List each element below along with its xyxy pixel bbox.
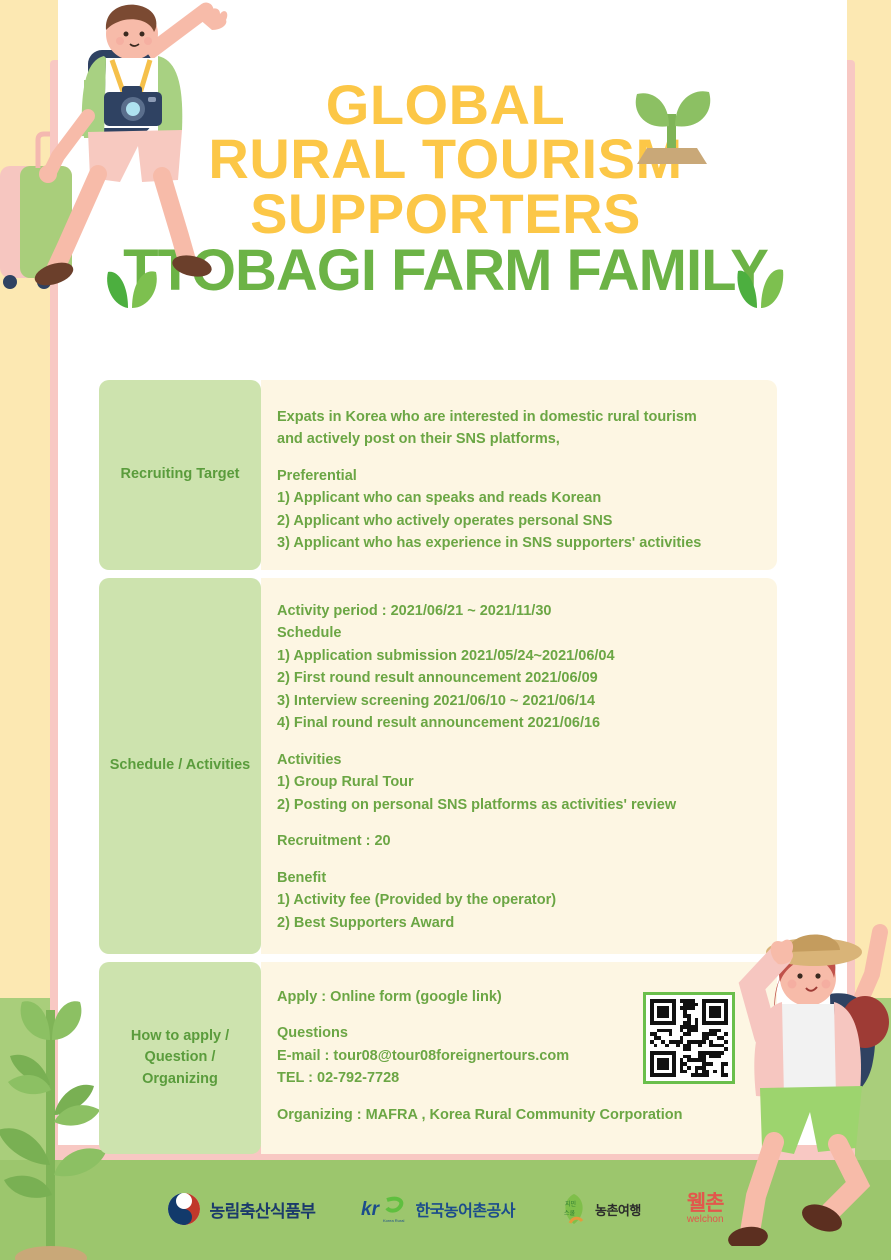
row-label-recruiting-target: Recruiting Target	[99, 380, 261, 570]
row-text-line: 1) Application submission 2021/05/24~202…	[277, 645, 759, 667]
taegeuk-icon	[167, 1192, 201, 1226]
qr-code-pattern	[650, 999, 728, 1077]
row-label-how-to-apply: How to apply / Question / Organizing	[99, 962, 261, 1154]
table-row: How to apply / Question / Organizing App…	[99, 962, 777, 1154]
row-spacer	[277, 451, 759, 465]
row-text-line: and actively post on their SNS platforms…	[277, 428, 759, 450]
row-text-line: Expats in Korea who are interested in do…	[277, 406, 759, 428]
logo-label: 웰촌	[687, 1193, 724, 1214]
row-text-line: 1) Group Rural Tour	[277, 771, 759, 793]
row-body-recruiting-target: Expats in Korea who are interested in do…	[261, 380, 777, 570]
row-label-text: Recruiting Target	[121, 464, 240, 485]
row-spacer	[277, 735, 759, 749]
logo-sublabel: welchon	[687, 1214, 724, 1225]
illustration-male-traveler	[0, 0, 252, 296]
logo-label: 농촌여행	[595, 1200, 641, 1219]
row-text-line: 2) Best Supporters Award	[277, 912, 759, 934]
table-row: Schedule / Activities Activity period : …	[99, 578, 777, 954]
logo-krc: kr Korea Rural 한국농어촌공사	[361, 1194, 515, 1224]
logo-label: 한국농어촌공사	[415, 1197, 515, 1221]
row-text-line: Organizing : MAFRA , Korea Rural Communi…	[277, 1104, 759, 1126]
svg-text:Korea Rural: Korea Rural	[383, 1218, 404, 1223]
row-text-line: 3) Interview screening 2021/06/10 ~ 2021…	[277, 690, 759, 712]
kr-logo-icon: kr Korea Rural	[361, 1194, 407, 1224]
table-row: Recruiting Target Expats in Korea who ar…	[99, 380, 777, 570]
row-text-line: 2) Applicant who actively operates perso…	[277, 510, 759, 532]
row-text-line: Benefit	[277, 867, 759, 889]
row-label-text: Schedule / Activities	[110, 755, 250, 776]
row-text-line: 3) Applicant who has experience in SNS s…	[277, 532, 759, 554]
row-text-line: Activities	[277, 749, 759, 771]
row-text-line: Activity period : 2021/06/21 ~ 2021/11/3…	[277, 600, 759, 622]
svg-text:스쿨: 스쿨	[564, 1210, 576, 1217]
row-text-line: 1) Applicant who can speaks and reads Ko…	[277, 487, 759, 509]
logo-label: 농림축산식품부	[209, 1197, 315, 1222]
poster-root: GLOBAL RURAL TOURISM SUPPORTERS TTOBAGI …	[0, 0, 891, 1260]
row-label-text: How to apply / Question / Organizing	[131, 1026, 229, 1089]
info-table: Recruiting Target Expats in Korea who ar…	[99, 380, 777, 1162]
row-text-line: 1) Activity fee (Provided by the operato…	[277, 889, 759, 911]
leaf-logo-icon: 지민 스쿨	[561, 1193, 587, 1225]
logo-welchon: 웰촌 welchon	[687, 1193, 724, 1225]
row-text-line: 4) Final round result announcement 2021/…	[277, 712, 759, 734]
row-body-how-to-apply: Apply : Online form (google link) Questi…	[261, 962, 777, 1154]
svg-text:kr: kr	[361, 1199, 381, 1220]
illustration-female-traveler	[722, 916, 891, 1246]
sprout-icon	[625, 84, 721, 170]
row-spacer	[277, 853, 759, 867]
row-spacer	[277, 816, 759, 830]
row-text-line: Recruitment : 20	[277, 830, 759, 852]
row-body-schedule-activities: Activity period : 2021/06/21 ~ 2021/11/3…	[261, 578, 777, 954]
row-text-line: 2) First round result announcement 2021/…	[277, 667, 759, 689]
row-text-line: Preferential	[277, 465, 759, 487]
logo-rural-travel: 지민 스쿨 농촌여행	[561, 1193, 641, 1225]
row-label-schedule-activities: Schedule / Activities	[99, 578, 261, 954]
logo-mafra: 농림축산식품부	[167, 1192, 315, 1226]
svg-text:지민: 지민	[565, 1200, 576, 1208]
row-spacer	[277, 1090, 759, 1104]
row-text-line: 2) Posting on personal SNS platforms as …	[277, 794, 759, 816]
row-text-line: Schedule	[277, 622, 759, 644]
leaf-pair-right-icon	[735, 262, 785, 310]
